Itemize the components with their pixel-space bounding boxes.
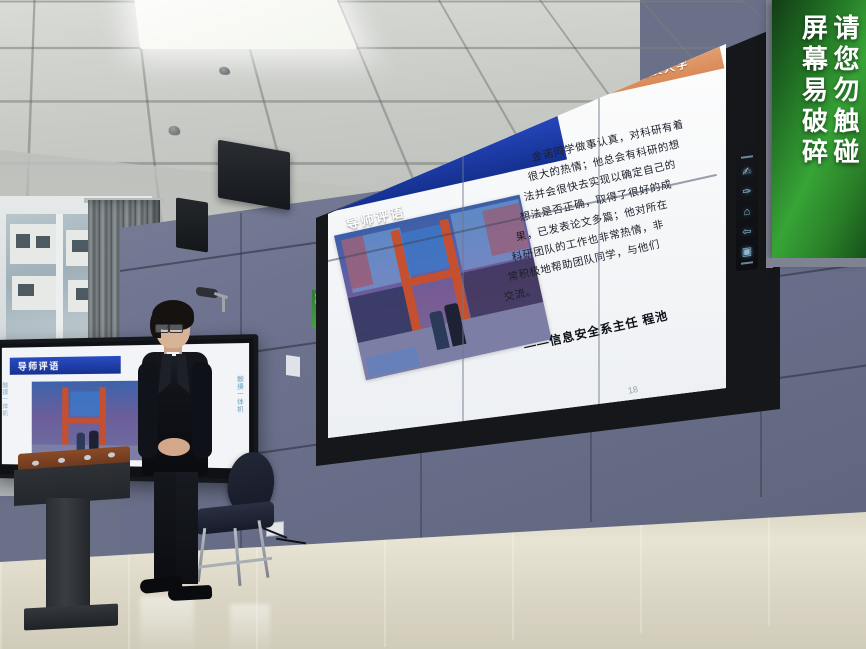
presenter-arm-right: [192, 362, 212, 458]
eyeglasses-icon: [155, 324, 169, 333]
presenter-shoe-right: [168, 585, 213, 601]
ceiling-tile: [0, 1, 36, 49]
floor-tile-seam: [640, 523, 642, 633]
ceiling-tile: [32, 1, 143, 49]
monitor-slide-title: 导师评语: [18, 359, 60, 373]
floor-tile-seam: [512, 530, 514, 640]
floor-tile-seam: [768, 516, 770, 626]
eyeglasses-icon-right: [169, 324, 183, 333]
exterior-window: [36, 236, 50, 248]
warning-line-2: 屏幕易破碎: [799, 14, 827, 262]
wall-plate: [286, 355, 300, 377]
floor-tile-seam: [0, 558, 2, 649]
podium-stem: [46, 498, 90, 616]
camera-mount-pole: [222, 296, 225, 312]
warning-line-1: 请您勿触碰: [830, 14, 858, 262]
screen-fragile-warning-sign: 请您勿触碰 屏幕易破碎: [772, 0, 866, 262]
presenter-leg-right: [176, 472, 198, 584]
floor-reflection: [230, 604, 270, 649]
presenter-standing: [128, 300, 220, 616]
back-arrow-icon[interactable]: ⇦: [739, 223, 755, 240]
display-icon[interactable]: ▣: [739, 243, 755, 260]
eyeglasses-bridge: [167, 327, 170, 328]
annotate-icon[interactable]: ✍: [739, 163, 755, 180]
monitor-bezel-label-left: 触摸一体机: [2, 382, 9, 417]
ceiling-tile: [140, 47, 266, 103]
wall-speaker-small: [176, 197, 208, 252]
presenter-hands: [158, 438, 190, 456]
comment-icon[interactable]: ✑: [739, 183, 755, 200]
exterior-window: [16, 234, 30, 248]
presenter-arm-left: [138, 362, 158, 458]
home-icon[interactable]: ⌂: [739, 203, 755, 220]
ceiling-light-panel: [131, 0, 358, 49]
ceiling-tile: [30, 47, 149, 103]
classroom-photo-scene: 绿色 提示牌 导师评语 中国地质大学: [0, 0, 866, 649]
touchscreen-side-controls[interactable]: ✍ ✑ ⌂ ⇦ ▣: [736, 149, 758, 272]
floor-tile-seam: [384, 537, 386, 647]
sprinkler-head: [168, 126, 181, 135]
exterior-window: [72, 240, 88, 252]
monitor-bezel-label-right: 触摸一体机: [234, 375, 244, 413]
presenter-leg-left: [154, 472, 176, 584]
slide-page-number: 18: [627, 384, 639, 396]
sign-frame-bottom: [766, 258, 866, 267]
exterior-window: [18, 284, 34, 296]
